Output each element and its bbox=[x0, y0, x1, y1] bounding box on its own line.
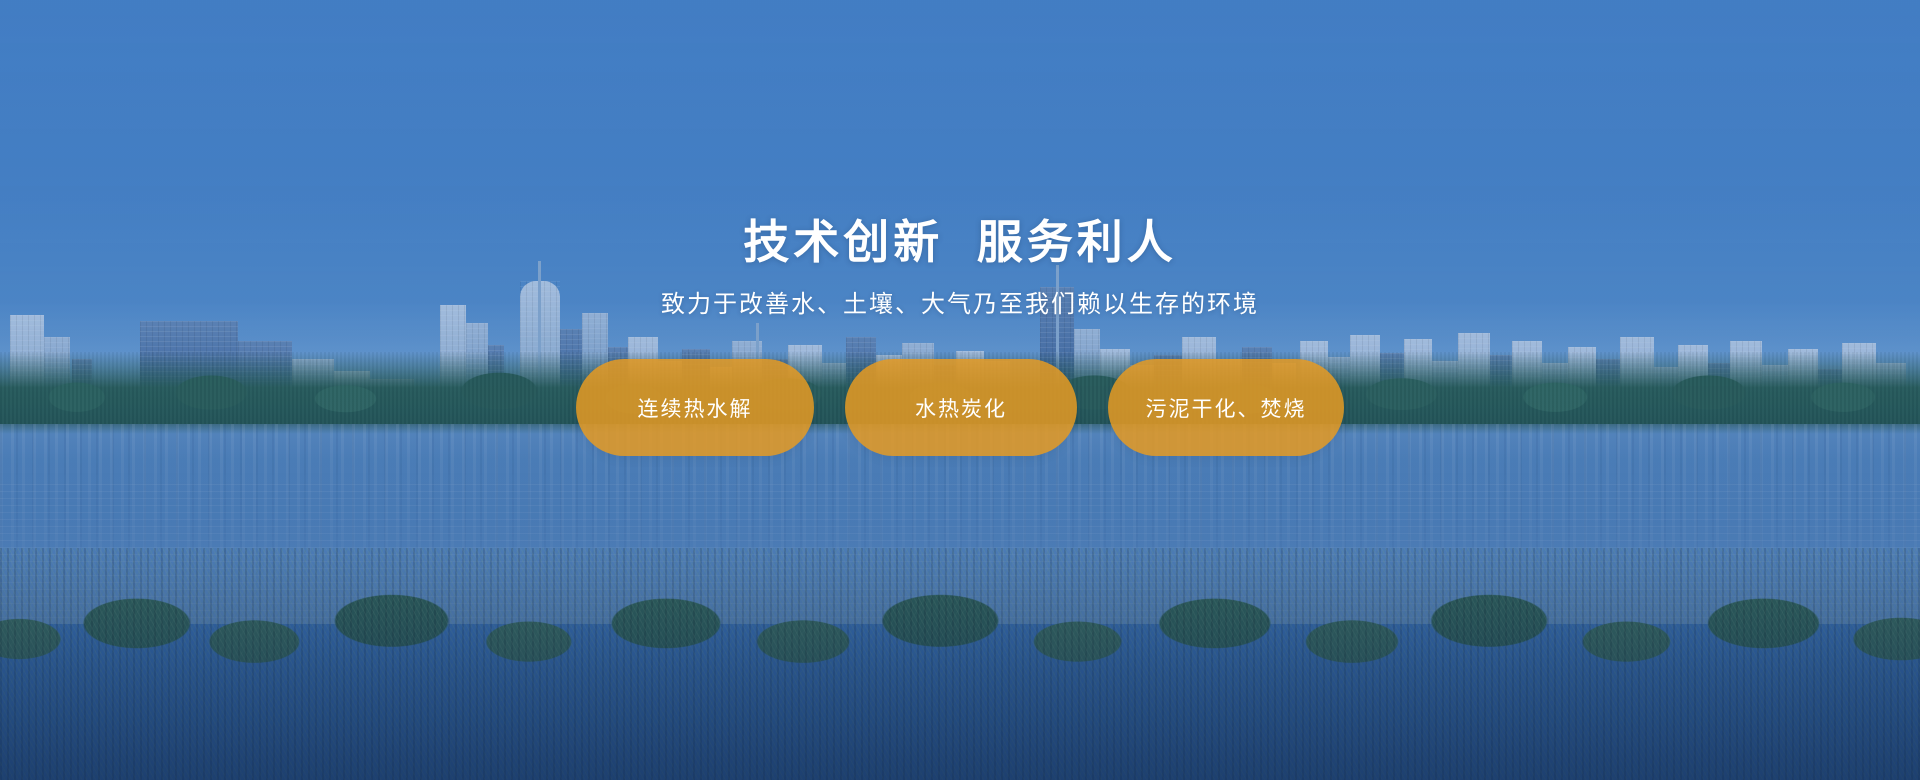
category-button-hydrothermal-carbonization[interactable]: 水热炭化 bbox=[845, 359, 1077, 456]
category-button-continuous-thermal-hydrolysis[interactable]: 连续热水解 bbox=[576, 359, 814, 456]
category-button-label: 污泥干化、焚烧 bbox=[1146, 393, 1307, 423]
category-button-sludge-drying-incineration[interactable]: 污泥干化、焚烧 bbox=[1108, 359, 1344, 456]
hero-banner: 技术创新 服务利人 致力于改善水、土壤、大气乃至我们赖以生存的环境 连续热水解 … bbox=[0, 0, 1920, 780]
category-button-row: 连续热水解 水热炭化 污泥干化、焚烧 bbox=[576, 359, 1344, 456]
page-title: 技术创新 服务利人 bbox=[743, 214, 1177, 272]
category-button-label: 水热炭化 bbox=[915, 393, 1007, 423]
page-subtitle: 致力于改善水、土壤、大气乃至我们赖以生存的环境 bbox=[661, 288, 1259, 322]
category-button-label: 连续热水解 bbox=[638, 393, 753, 423]
hero-content: 技术创新 服务利人 致力于改善水、土壤、大气乃至我们赖以生存的环境 连续热水解 … bbox=[0, 0, 1920, 780]
